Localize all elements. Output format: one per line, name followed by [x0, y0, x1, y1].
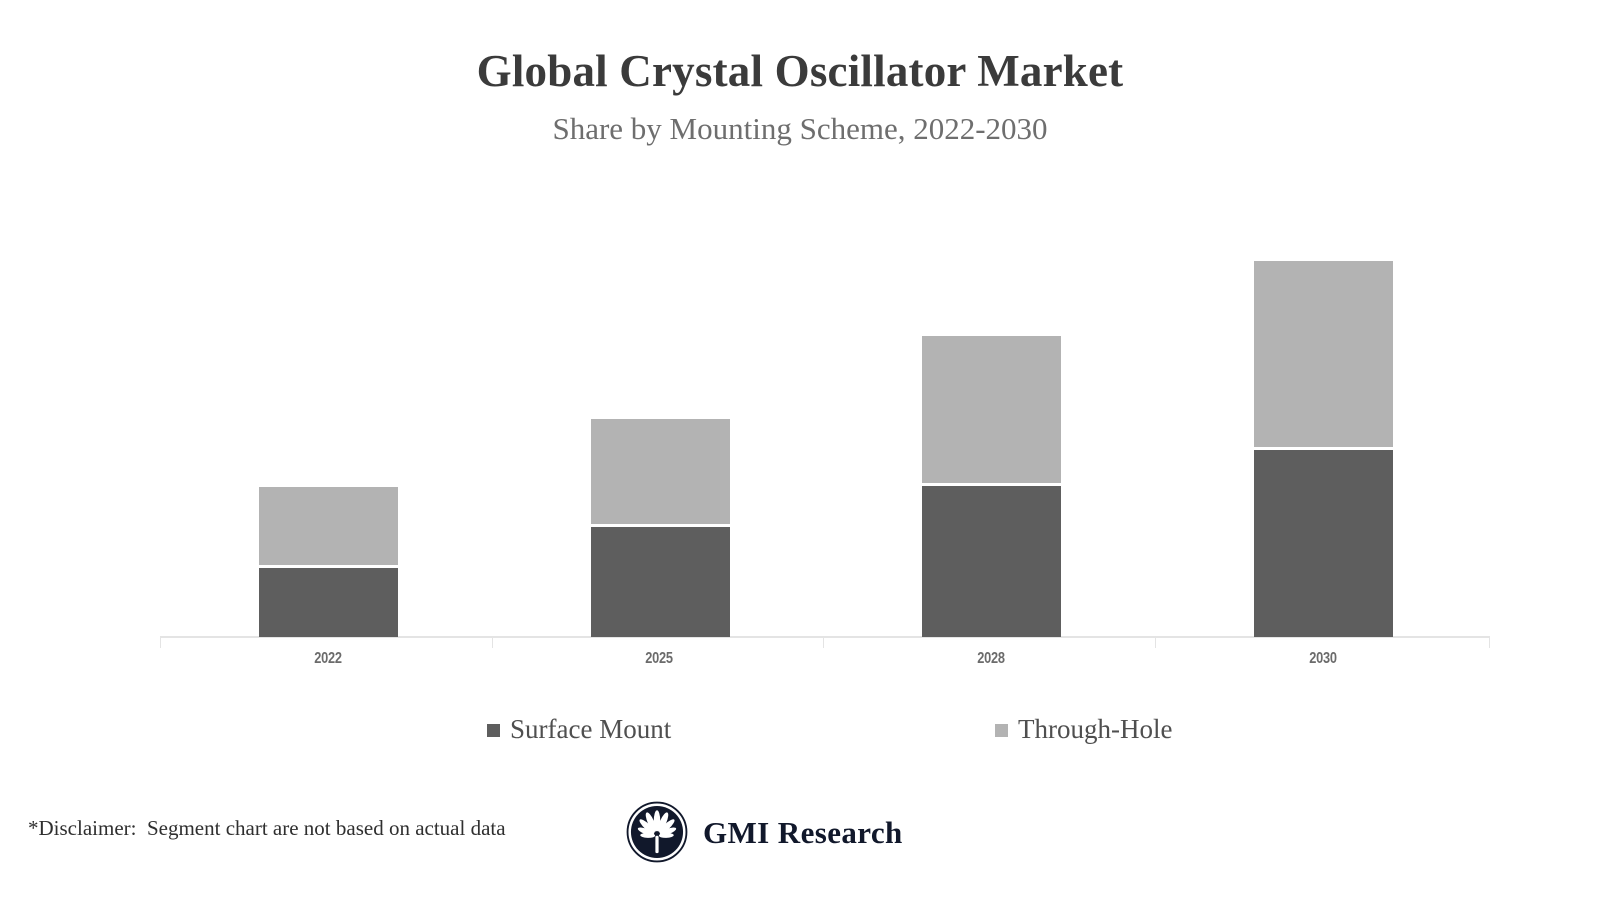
brand-name: GMI Research — [703, 817, 903, 848]
square-marker-icon — [487, 724, 500, 737]
chart-title: Global Crystal Oscillator Market — [0, 48, 1600, 95]
legend-item-surface-mount[interactable]: Surface Mount — [487, 716, 671, 743]
x-axis-labels: 2022 2025 2028 2030 — [160, 650, 1490, 680]
title-block: Global Crystal Oscillator Market Share b… — [0, 48, 1600, 146]
bar-segment-through-hole[interactable] — [259, 487, 398, 565]
bar-segment-through-hole[interactable] — [591, 419, 730, 524]
x-tick-label-2022: 2022 — [264, 650, 392, 668]
x-tick-label-2028: 2028 — [927, 650, 1055, 668]
bar-segment-surface-mount[interactable] — [591, 527, 730, 637]
x-axis-tick-separator — [1155, 637, 1156, 648]
square-marker-icon — [995, 724, 1008, 737]
chart-legend: Surface Mount Through-Hole — [0, 716, 1600, 756]
disclaimer-text: *Disclaimer: Segment chart are not based… — [28, 816, 506, 841]
x-axis-tick-separator — [1489, 637, 1490, 648]
legend-label-surface-mount: Surface Mount — [510, 716, 671, 743]
plot-area — [160, 180, 1490, 638]
x-tick-label-2030: 2030 — [1259, 650, 1387, 668]
bar-segment-surface-mount[interactable] — [259, 568, 398, 637]
chart-canvas: Global Crystal Oscillator Market Share b… — [0, 0, 1600, 900]
x-axis-tick-separator — [160, 637, 161, 648]
legend-label-through-hole: Through-Hole — [1018, 716, 1172, 743]
x-axis-tick-separator — [823, 637, 824, 648]
brand-logo: GMI Research — [626, 800, 903, 864]
bar-segment-surface-mount[interactable] — [1254, 450, 1393, 637]
bar-segment-surface-mount[interactable] — [922, 486, 1061, 637]
bar-segment-through-hole[interactable] — [922, 336, 1061, 483]
chart-subtitle: Share by Mounting Scheme, 2022-2030 — [0, 112, 1600, 146]
bar-segment-through-hole[interactable] — [1254, 261, 1393, 447]
x-tick-label-2025: 2025 — [595, 650, 723, 668]
legend-item-through-hole[interactable]: Through-Hole — [995, 716, 1172, 743]
gmi-palm-emblem-icon — [626, 801, 688, 863]
x-axis-tick-separator — [492, 637, 493, 648]
